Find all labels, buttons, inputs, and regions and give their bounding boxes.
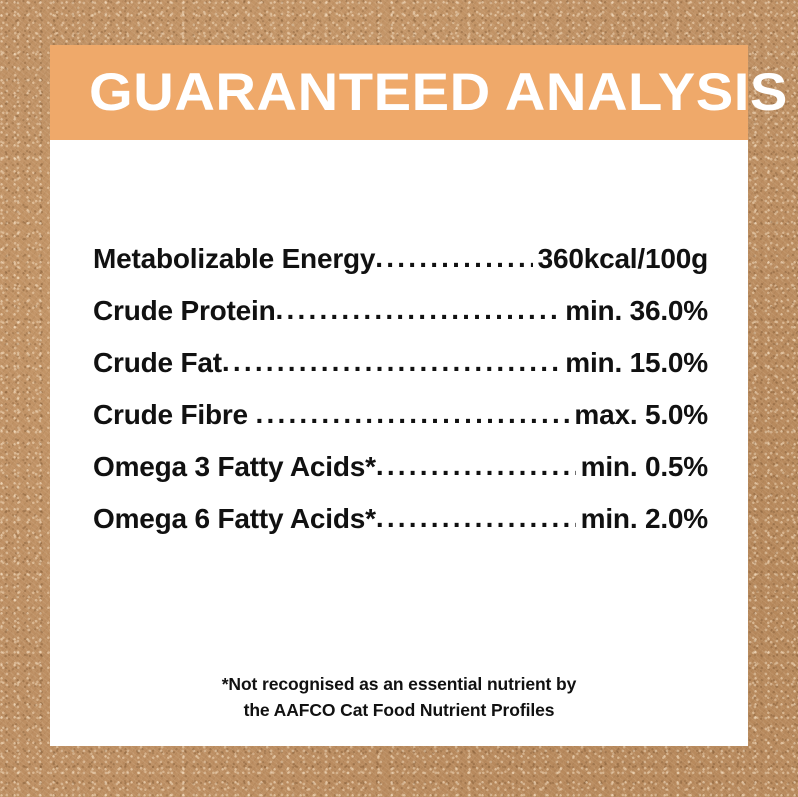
dot-leader: ..................................: [276, 294, 561, 326]
table-row: Crude Fibre ............................…: [93, 399, 708, 451]
guaranteed-analysis-card: GUARANTEED ANALYSIS Metabolizable Energy…: [50, 45, 748, 746]
nutrient-label: Omega 3 Fatty Acids*: [93, 451, 376, 483]
nutrient-value: max. 5.0%: [570, 399, 708, 431]
header-band: GUARANTEED ANALYSIS: [50, 45, 748, 140]
dot-leader: .........................: [376, 502, 576, 534]
nutrient-value: min. 2.0%: [577, 503, 708, 535]
footnote-line-2: the AAFCO Cat Food Nutrient Profiles: [50, 697, 748, 723]
nutrient-label: Metabolizable Energy: [93, 243, 375, 275]
nutrient-value: min. 15.0%: [561, 347, 708, 379]
table-row: Omega 6 Fatty Acids* ...................…: [93, 503, 708, 555]
nutrient-list: Metabolizable Energy .................. …: [93, 243, 708, 555]
table-row: Metabolizable Energy .................. …: [93, 243, 708, 295]
table-row: Crude Protein ..........................…: [93, 295, 708, 347]
table-row: Crude Fat ..............................…: [93, 347, 708, 399]
nutrient-value: 360kcal/100g: [534, 243, 708, 275]
dot-leader: ........................................: [222, 346, 560, 378]
footnote-line-1: *Not recognised as an essential nutrient…: [50, 671, 748, 697]
nutrient-label: Crude Protein: [93, 295, 276, 327]
page-title: GUARANTEED ANALYSIS: [89, 66, 788, 119]
nutrient-label: Omega 6 Fatty Acids*: [93, 503, 376, 535]
dot-leader: ..................: [375, 242, 532, 274]
nutrient-value: min. 36.0%: [561, 295, 708, 327]
nutrient-label: Crude Fat: [93, 347, 222, 379]
page-background: GUARANTEED ANALYSIS Metabolizable Energy…: [0, 0, 798, 797]
nutrient-label: Crude Fibre: [93, 399, 256, 431]
footnote: *Not recognised as an essential nutrient…: [50, 671, 748, 723]
nutrient-value: min. 0.5%: [577, 451, 708, 483]
table-row: Omega 3 Fatty Acids* ...................…: [93, 451, 708, 503]
dot-leader: .........................: [376, 450, 576, 482]
dot-leader: .................................: [256, 398, 570, 430]
